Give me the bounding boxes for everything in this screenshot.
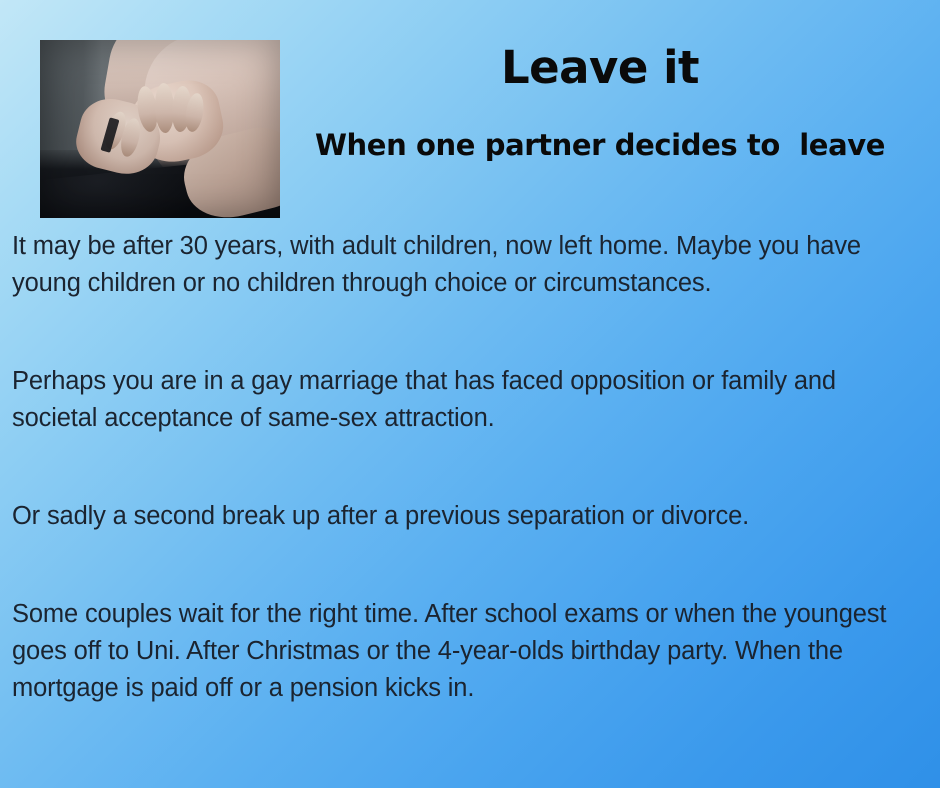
body-paragraph: Or sadly a second break up after a previ… (12, 498, 902, 535)
body-paragraph: Perhaps you are in a gay marriage that h… (12, 363, 902, 437)
photo-vignette (40, 40, 280, 218)
slide-subtitle: When one partner decides to leave (290, 130, 910, 162)
slide-title: Leave it (300, 44, 900, 91)
slide-body: It may be after 30 years, with adult chi… (12, 228, 902, 707)
body-paragraph: Some couples wait for the right time. Af… (12, 596, 902, 707)
hands-photo (40, 40, 280, 218)
body-paragraph: It may be after 30 years, with adult chi… (12, 228, 902, 302)
slide-canvas: Leave it When one partner decides to lea… (0, 0, 940, 788)
